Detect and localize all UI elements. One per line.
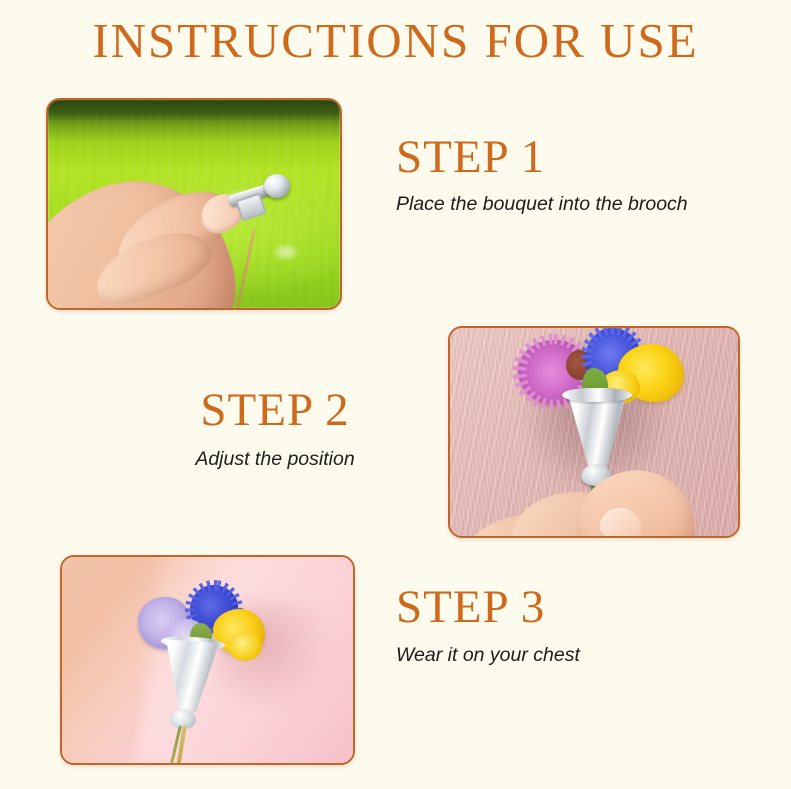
step-3-description: Wear it on your chest	[396, 644, 716, 667]
step-1-description: Place the bouquet into the brooch	[396, 193, 716, 216]
step-3-text-block: STEP 3 Wear it on your chest	[396, 583, 716, 666]
step-1-text-block: STEP 1 Place the bouquet into the brooch	[396, 133, 716, 215]
step-2-image-content	[450, 328, 738, 536]
step-2-text-block: STEP 2 Adjust the position	[120, 386, 430, 470]
page-title: INSTRUCTIONS FOR USE	[0, 14, 791, 68]
step-2-description: Adjust the position	[120, 448, 430, 471]
step-3-title: STEP 3	[396, 583, 716, 632]
step-2-title: STEP 2	[120, 386, 430, 435]
step-1-title: STEP 1	[396, 133, 716, 182]
step-1-image-content	[48, 100, 340, 308]
yellow-flower-small	[228, 631, 262, 661]
step-1-image	[46, 98, 342, 310]
grass-highlight	[276, 246, 296, 258]
brooch-pearl-head	[264, 174, 290, 198]
cone-rim	[562, 388, 632, 402]
instructions-page: INSTRUCTIONS FOR USE STEP 1 Place the bo…	[0, 0, 791, 789]
tree-line-blur	[48, 100, 340, 120]
step-3-image	[60, 555, 355, 765]
step-3-image-content	[62, 557, 353, 763]
step-2-image	[448, 326, 740, 538]
